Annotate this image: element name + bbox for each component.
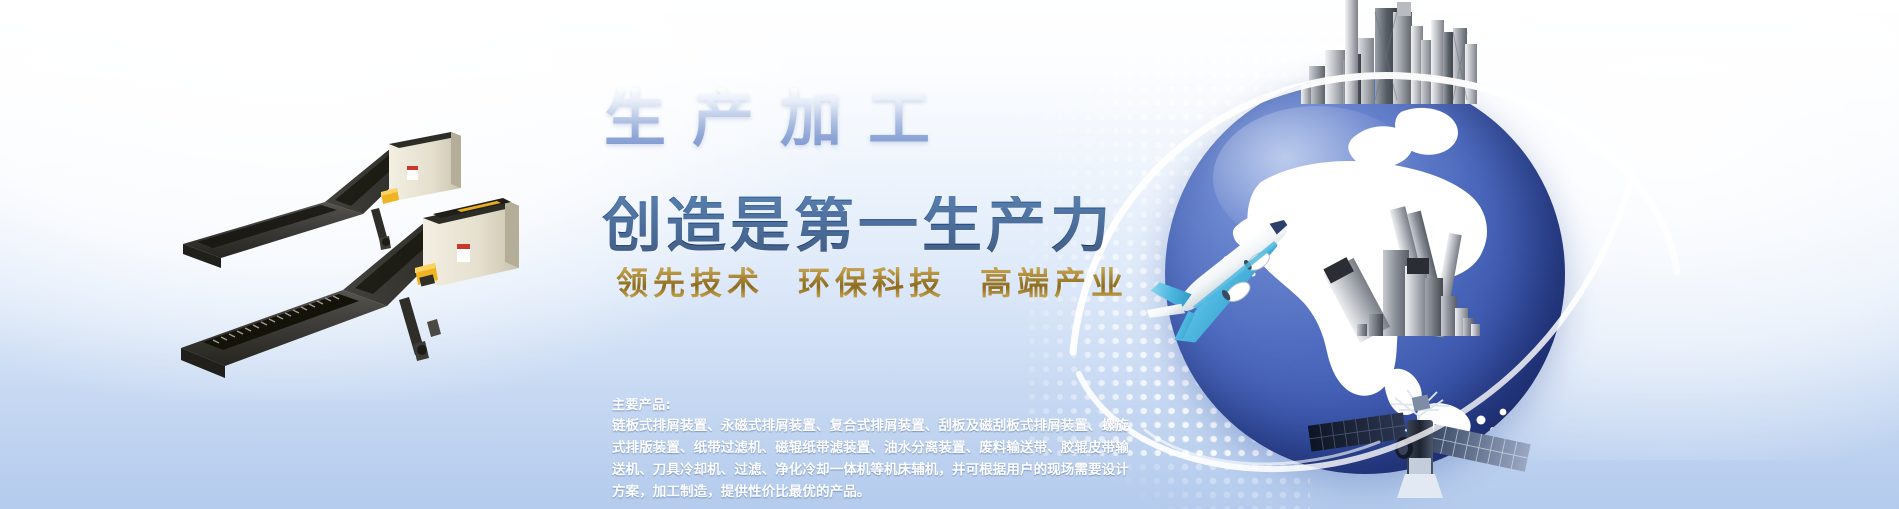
city-skyline-on-globe	[1321, 192, 1511, 382]
tagline-item-3: 高端产业	[980, 264, 1128, 302]
airplane-illustration	[1113, 210, 1323, 360]
tagline-item-2: 环保科技	[798, 264, 946, 302]
page-headline: 生产加工	[604, 88, 956, 150]
city-skyline-illustration	[1297, 0, 1493, 104]
page-slogan: 创造是第一生产力	[602, 196, 1114, 256]
chip-conveyor-machines	[175, 126, 595, 386]
products-block: 主要产品: 链板式排屑装置、永磁式排屑装置、复合式排屑装置、刮板及磁刮板式排屑装…	[612, 396, 1142, 504]
tagline-item-1: 领先技术	[616, 264, 764, 302]
globe-scene	[1105, 0, 1645, 509]
satellite-illustration	[1303, 374, 1533, 504]
production-processing-banner: 生产加工 创造是第一生产力 领先技术环保科技高端产业 主要产品: 链板式排屑装置…	[0, 0, 1899, 509]
products-title: 主要产品:	[612, 396, 1142, 416]
products-body: 链板式排屑装置、永磁式排屑装置、复合式排屑装置、刮板及磁刮板式排屑装置、螺旋式排…	[612, 416, 1142, 503]
tagline-row: 领先技术环保科技高端产业	[616, 267, 1128, 299]
